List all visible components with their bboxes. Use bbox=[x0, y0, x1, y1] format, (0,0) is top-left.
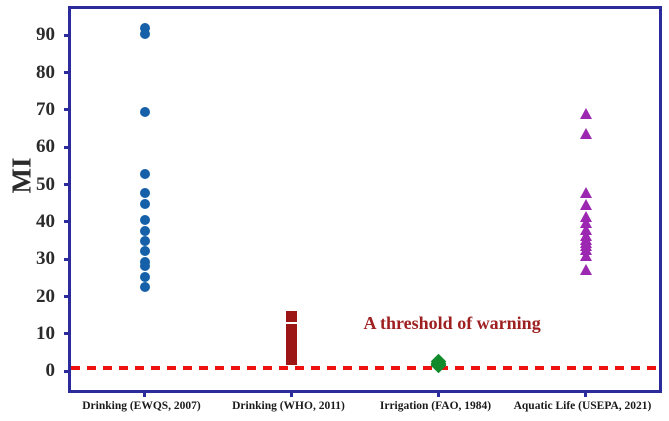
data-point-marker bbox=[140, 236, 150, 246]
x-axis-tick bbox=[290, 390, 293, 397]
data-point-marker bbox=[580, 199, 592, 210]
threshold-annotation-label: A threshold of warning bbox=[364, 313, 541, 334]
y-axis-tick-label: 10 bbox=[11, 324, 55, 343]
x-axis-tick bbox=[143, 390, 146, 397]
data-point-marker bbox=[140, 246, 150, 256]
y-axis-tick bbox=[64, 71, 71, 74]
y-axis-tick-label: 40 bbox=[11, 212, 55, 231]
y-axis-tick-label: 80 bbox=[11, 63, 55, 82]
data-point-marker bbox=[580, 128, 592, 139]
data-point-marker bbox=[140, 282, 150, 292]
y-axis-tick bbox=[64, 332, 71, 335]
data-point-marker bbox=[140, 29, 150, 39]
data-point-marker bbox=[140, 226, 150, 236]
data-point-marker bbox=[140, 261, 150, 271]
data-point-marker bbox=[140, 169, 150, 179]
x-axis-tick bbox=[584, 390, 587, 397]
y-axis-tick-label: 0 bbox=[11, 361, 55, 380]
y-axis-tick bbox=[64, 146, 71, 149]
data-point-marker bbox=[580, 250, 592, 261]
y-axis-tick-label: 20 bbox=[11, 287, 55, 306]
data-point-marker bbox=[286, 311, 297, 322]
x-axis-category-label: Drinking (WHO, 2011) bbox=[232, 400, 345, 412]
y-axis-tick-label: 60 bbox=[11, 137, 55, 156]
data-point-marker bbox=[140, 199, 150, 209]
y-axis-tick bbox=[64, 295, 71, 298]
plot-frame: 0102030405060708090A threshold of warnin… bbox=[68, 6, 662, 393]
y-axis-tick-label: 70 bbox=[11, 100, 55, 119]
data-point-marker bbox=[140, 107, 150, 117]
data-point-marker bbox=[580, 187, 592, 198]
data-point-marker bbox=[140, 272, 150, 282]
data-point-marker bbox=[580, 264, 592, 275]
y-axis-tick bbox=[64, 370, 71, 373]
y-axis-tick-label: 30 bbox=[11, 249, 55, 268]
x-axis-category-label: Aquatic Life (USEPA, 2021) bbox=[514, 400, 652, 412]
y-axis-tick bbox=[64, 108, 71, 111]
y-axis-tick bbox=[64, 220, 71, 223]
y-axis-tick bbox=[64, 258, 71, 261]
x-axis-category-label: Drinking (EWQS, 2007) bbox=[82, 400, 201, 412]
y-axis-tick bbox=[64, 183, 71, 186]
data-point-marker bbox=[286, 354, 297, 365]
x-axis-tick bbox=[437, 390, 440, 397]
data-point-marker bbox=[140, 215, 150, 225]
threshold-line bbox=[71, 366, 659, 370]
y-axis-tick-label: 50 bbox=[11, 175, 55, 194]
x-axis-category-label: Irrigation (FAO, 1984) bbox=[380, 400, 491, 412]
y-axis-tick-label: 90 bbox=[11, 25, 55, 44]
y-axis-tick bbox=[64, 34, 71, 37]
scatter-chart-figure: MI 0102030405060708090A threshold of war… bbox=[0, 0, 669, 421]
data-point-marker bbox=[580, 108, 592, 119]
plot-area: 0102030405060708090A threshold of warnin… bbox=[71, 9, 659, 390]
data-point-marker bbox=[140, 188, 150, 198]
